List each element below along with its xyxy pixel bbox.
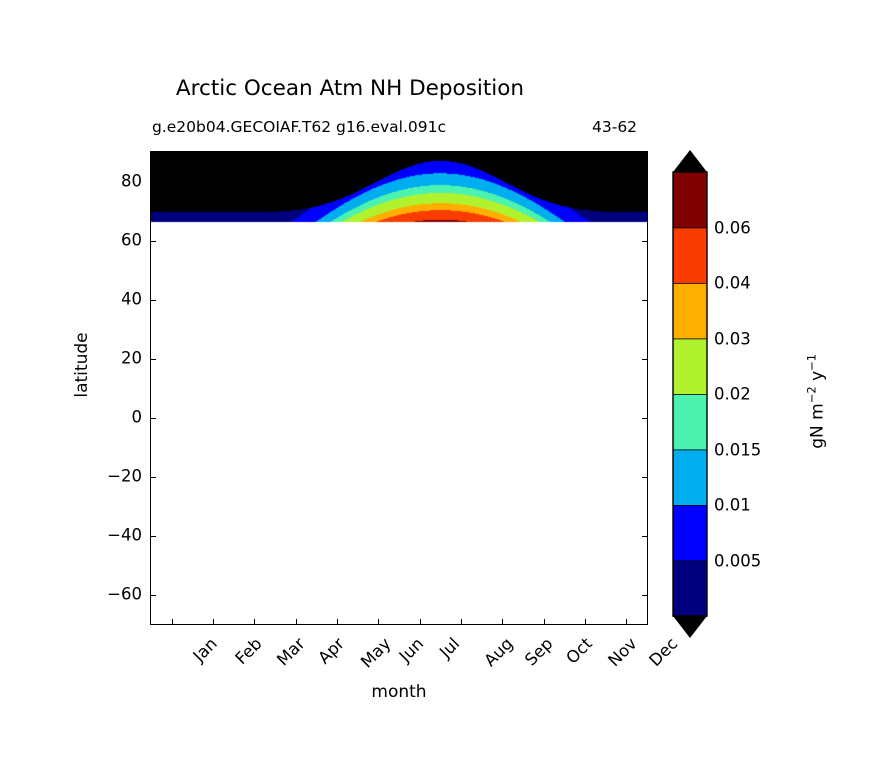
- y-axis-tick: [150, 182, 156, 183]
- x-axis-tick: [461, 619, 462, 625]
- x-axis-tick: [544, 619, 545, 625]
- colorbar-tick-label: 0.06: [714, 218, 751, 237]
- y-axis-tick: [642, 300, 648, 301]
- x-axis-tick-label: Oct: [562, 634, 596, 668]
- x-axis-tick-label: Jul: [435, 634, 463, 662]
- x-axis-label: month: [150, 682, 648, 702]
- colorbar-band: [673, 339, 707, 395]
- y-axis-tick: [150, 418, 156, 419]
- colorbar-tick-label: 0.03: [714, 329, 751, 348]
- y-axis-tick: [150, 300, 156, 301]
- colorbar-tick-label: 0.02: [714, 385, 751, 404]
- colorbar-axis-label: gN m−2 y−1: [805, 301, 828, 501]
- year-range-subtitle: 43-62: [592, 118, 637, 136]
- y-axis-label: latitude: [72, 275, 92, 455]
- colorbar-extend-min-arrow: [673, 616, 707, 638]
- colorbar-swatches: [668, 148, 712, 640]
- x-axis-tick-label: May: [357, 634, 395, 672]
- case-name-subtitle: g.e20b04.GECOIAF.T62 g16.eval.091c: [152, 118, 446, 136]
- colorbar-band: [673, 172, 707, 228]
- plot-area: [150, 151, 648, 625]
- x-axis-tick: [502, 619, 503, 625]
- x-axis-tick-label: Apr: [314, 634, 348, 668]
- x-axis-tick-label: Jun: [396, 634, 428, 666]
- y-axis-tick-label: −40: [82, 525, 142, 544]
- y-axis-tick: [150, 536, 156, 537]
- y-axis-tick: [150, 241, 156, 242]
- colorbar-tick-label: 0.005: [714, 551, 761, 570]
- x-axis-tick: [585, 619, 586, 625]
- colorbar: [668, 148, 712, 640]
- x-axis-tick-label: Jan: [189, 634, 220, 665]
- y-axis-tick: [150, 595, 156, 596]
- y-axis-tick-label: 80: [82, 171, 142, 190]
- y-axis-tick-label: −20: [82, 466, 142, 485]
- colorbar-band: [673, 283, 707, 339]
- x-axis-tick-label: Nov: [604, 634, 640, 670]
- y-axis-tick: [642, 477, 648, 478]
- x-axis-tick: [626, 619, 627, 625]
- y-axis-tick: [150, 359, 156, 360]
- colorbar-tick-label: 0.01: [714, 496, 751, 515]
- x-axis-tick: [254, 619, 255, 625]
- x-axis-tick: [337, 619, 338, 625]
- colorbar-band: [673, 228, 707, 284]
- colorbar-tick-label: 0.015: [714, 440, 761, 459]
- y-axis-tick: [642, 241, 648, 242]
- colorbar-band: [673, 561, 707, 617]
- x-axis-tick: [213, 619, 214, 625]
- x-axis-tick: [296, 619, 297, 625]
- x-axis-tick-label: Feb: [232, 634, 266, 668]
- y-axis-tick: [642, 182, 648, 183]
- y-axis-tick: [642, 418, 648, 419]
- x-axis-tick-label: Mar: [273, 634, 308, 669]
- y-axis-tick-label: −60: [82, 584, 142, 603]
- colorbar-extend-max-arrow: [673, 150, 707, 172]
- colorbar-tick-label: 0.04: [714, 274, 751, 293]
- y-axis-tick: [642, 595, 648, 596]
- contour-plot: [151, 152, 647, 624]
- x-axis-tick-label: Sep: [521, 634, 556, 669]
- y-axis-tick: [642, 359, 648, 360]
- x-axis-tick: [172, 619, 173, 625]
- page-title: Arctic Ocean Atm NH Deposition: [0, 76, 700, 101]
- y-axis-tick: [642, 536, 648, 537]
- figure-canvas: Arctic Ocean Atm NH Deposition g.e20b04.…: [0, 0, 876, 783]
- x-axis-tick: [378, 619, 379, 625]
- colorbar-band: [673, 505, 707, 561]
- y-axis-tick-label: 60: [82, 230, 142, 249]
- x-axis-tick: [420, 619, 421, 625]
- y-axis-tick: [150, 477, 156, 478]
- colorbar-band: [673, 450, 707, 506]
- x-axis-tick-label: Aug: [480, 634, 516, 670]
- colorbar-band: [673, 394, 707, 450]
